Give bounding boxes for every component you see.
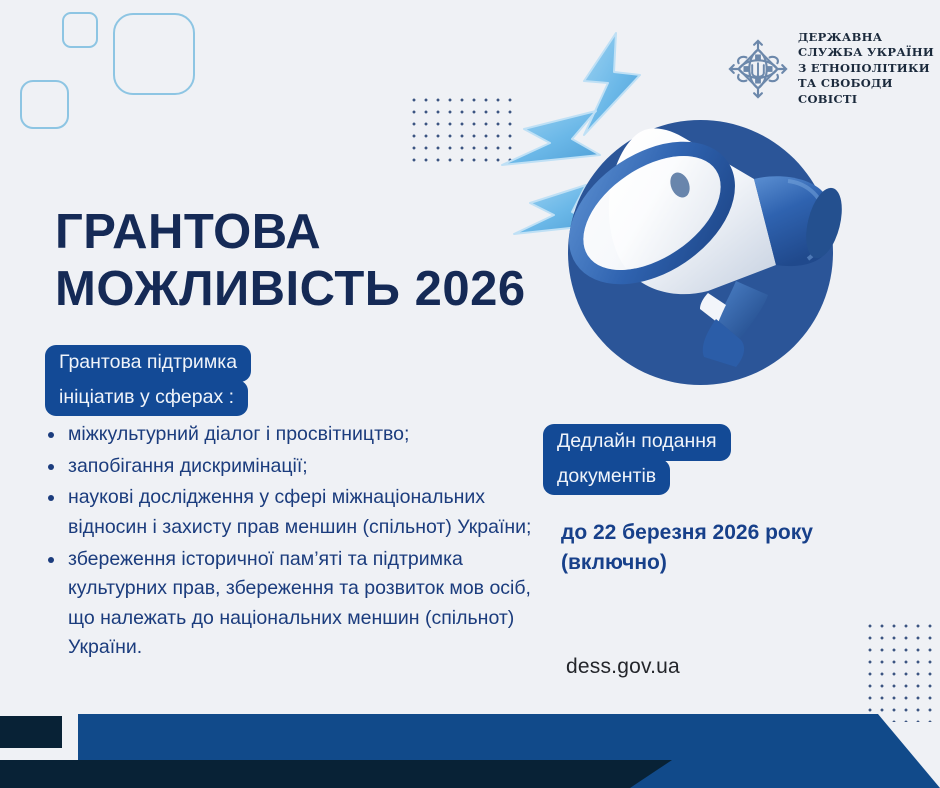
page-title: ГРАНТОВА МОЖЛИВІСТЬ 2026 [55, 204, 615, 318]
ornamental-trident-emblem-icon [727, 38, 789, 100]
deadline-date-line-2: (включно) [561, 548, 891, 578]
website-url[interactable]: dess.gov.ua [566, 655, 680, 679]
list-item: міжкультурний діалог і просвітництво; [38, 420, 553, 450]
logo-line-1: Державна [798, 30, 934, 45]
deadline-date-line-1: до 22 березня 2026 року [561, 518, 891, 548]
grant-support-badge: Грантова підтримка ініціатив у сферах : [45, 345, 251, 416]
agency-logo: Державна Служба України З етнополітики т… [727, 30, 934, 107]
grant-areas-list: міжкультурний діалог і просвітництво; за… [38, 420, 553, 665]
logo-line-5: Совісті [798, 92, 934, 107]
dot-grid-icon [406, 92, 514, 162]
deadline-date: до 22 березня 2026 року (включно) [561, 518, 891, 578]
list-item: запобігання дискримінації; [38, 452, 553, 482]
grant-announcement-poster: Державна Служба України З етнополітики т… [0, 0, 940, 788]
logo-line-4: та свободи [798, 76, 934, 91]
list-item: наукові дослідження у сфері міжнаціональ… [38, 483, 553, 542]
agency-logo-text: Державна Служба України З етнополітики т… [798, 30, 934, 107]
title-line-1: ГРАНТОВА [55, 204, 615, 261]
grant-support-badge-line-1: Грантова підтримка [45, 345, 251, 382]
logo-line-3: З етнополітики [798, 61, 934, 76]
logo-line-2: Служба України [798, 45, 934, 60]
list-item: збереження історичної пам’яті та підтрим… [38, 545, 553, 664]
rounded-square-outline-icon [20, 80, 69, 129]
title-line-2: МОЖЛИВІСТЬ 2026 [55, 261, 615, 318]
deadline-badge-line-1: Дедлайн подання [543, 424, 731, 461]
rounded-square-outline-icon [62, 12, 98, 48]
rounded-square-outline-icon [113, 13, 195, 95]
deadline-badge-line-2: документів [543, 459, 670, 496]
deadline-badge: Дедлайн подання документів [543, 424, 731, 495]
bottom-decoration-band [0, 688, 940, 788]
grant-support-badge-line-2: ініціатив у сферах : [45, 380, 248, 417]
